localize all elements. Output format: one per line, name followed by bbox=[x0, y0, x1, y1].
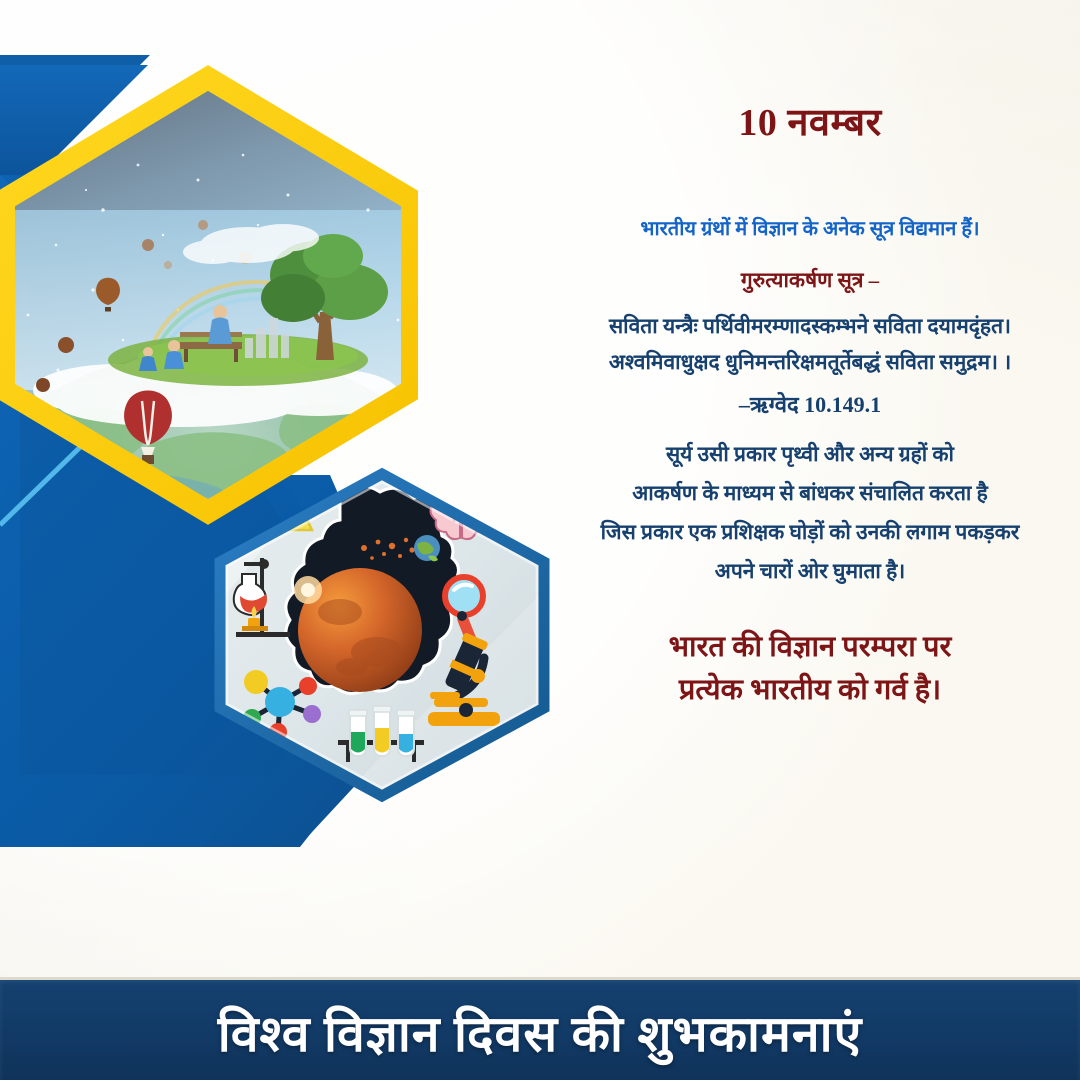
explanation-block: सूर्य उसी प्रकार पृथ्वी और अन्य ग्रहों क… bbox=[601, 435, 1020, 590]
verse-line-1: सविता यन्त्रैः पर्थिवीमरम्णादस्कम्भने सव… bbox=[609, 308, 1011, 344]
lead-line: भारतीय ग्रंथों में विज्ञान के अनेक सूत्र… bbox=[640, 216, 979, 243]
earth-sky-hexagon bbox=[0, 60, 418, 525]
date-title: 10 नवम्बर bbox=[738, 104, 881, 142]
text-column: 10 नवम्बर भारतीय ग्रंथों में विज्ञान के … bbox=[540, 0, 1080, 975]
closing-statement: भारत की विज्ञान परम्परा पर प्रत्येक भारत… bbox=[669, 626, 952, 710]
explanation-line-1: सूर्य उसी प्रकार पृथ्वी और अन्य ग्रहों क… bbox=[601, 435, 1020, 474]
explanation-line-4: अपने चारों ओर घुमाता है। bbox=[601, 552, 1020, 591]
explanation-line-3: जिस प्रकार एक प्रशिक्षक घोड़ों को उनकी ल… bbox=[601, 513, 1020, 552]
verse-line-2: अश्वमिवाधुक्षद धुनिमन्तरिक्षमतूर्तेबद्धं… bbox=[609, 344, 1011, 380]
poster-canvas: 10 नवम्बर भारतीय ग्रंथों में विज्ञान के … bbox=[0, 0, 1080, 1080]
explanation-line-2: आकर्षण के माध्यम से बांधकर संचालित करता … bbox=[601, 474, 1020, 513]
closing-line-2: प्रत्येक भारतीय को गर्व है। bbox=[669, 669, 952, 711]
bottom-banner: विश्व विज्ञान दिवस की शुभकामनाएं bbox=[0, 977, 1080, 1080]
citation: –ऋग्वेद 10.149.1 bbox=[739, 391, 881, 420]
closing-line-1: भारत की विज्ञान परम्परा पर bbox=[669, 626, 952, 668]
sutra-heading: गुरुत्याकर्षण सूत्र – bbox=[741, 267, 879, 294]
science-icons-hexagon bbox=[212, 462, 552, 807]
verse-block: सविता यन्त्रैः पर्थिवीमरम्णादस्कम्भने सव… bbox=[609, 308, 1011, 380]
banner-text: विश्व विज्ञान दिवस की शुभकामनाएं bbox=[218, 998, 863, 1066]
